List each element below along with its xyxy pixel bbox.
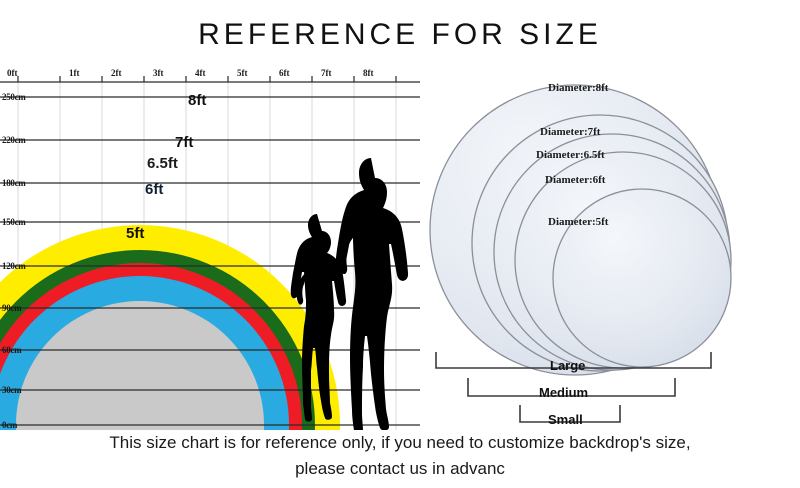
arc-label-6ft: 6ft xyxy=(145,181,163,198)
bracket-label-medium: Medium xyxy=(539,385,588,400)
page-title: REFERENCE FOR SIZE xyxy=(0,18,800,52)
y-tick-30cm: 30cm xyxy=(2,385,21,395)
diameter-circles-panel: Diameter:8ft Diameter:7ft Diameter:6.5ft… xyxy=(420,60,800,430)
y-tick-150cm: 150cm xyxy=(2,217,26,227)
footer-line-1: This size chart is for reference only, i… xyxy=(0,430,800,456)
x-tick-3ft: 3ft xyxy=(153,68,164,78)
circle-label-7ft: Diameter:7ft xyxy=(540,126,600,138)
footer-note: This size chart is for reference only, i… xyxy=(0,430,800,482)
bracket-label-small: Small xyxy=(548,412,583,427)
diameter-circles-svg xyxy=(420,60,800,430)
y-tick-180cm: 180cm xyxy=(2,178,26,188)
bracket-label-large: Large xyxy=(550,358,585,373)
footer-line-2: please contact us in advanc xyxy=(0,456,800,482)
y-tick-90cm: 90cm xyxy=(2,303,21,313)
arc-label-5ft: 5ft xyxy=(126,225,144,242)
y-tick-250cm: 250cm xyxy=(2,92,26,102)
arc-label-8ft: 8ft xyxy=(188,92,206,109)
scale-chart-panel: 0ft 1ft 2ft 3ft 4ft 5ft 6ft 7ft 8ft 250c… xyxy=(0,68,420,430)
y-tick-60cm: 60cm xyxy=(2,345,21,355)
scale-chart-svg xyxy=(0,68,420,430)
x-tick-5ft: 5ft xyxy=(237,68,248,78)
x-tick-1ft: 1ft xyxy=(69,68,80,78)
y-tick-0cm: 0cm xyxy=(2,420,17,430)
size-reference-chart: REFERENCE FOR SIZE xyxy=(0,0,800,488)
circle-label-6ft: Diameter:6ft xyxy=(545,174,605,186)
y-tick-220cm: 220cm xyxy=(2,135,26,145)
arc-label-6p5ft: 6.5ft xyxy=(147,155,178,172)
x-tick-2ft: 2ft xyxy=(111,68,122,78)
x-tick-7ft: 7ft xyxy=(321,68,332,78)
y-tick-120cm: 120cm xyxy=(2,261,26,271)
x-tick-4ft: 4ft xyxy=(195,68,206,78)
x-tick-0ft: 0ft xyxy=(7,68,18,78)
circle-label-6p5ft: Diameter:6.5ft xyxy=(536,149,605,161)
x-tick-8ft: 8ft xyxy=(363,68,374,78)
arc-label-7ft: 7ft xyxy=(175,134,193,151)
x-tick-6ft: 6ft xyxy=(279,68,290,78)
circle-label-5ft: Diameter:5ft xyxy=(548,216,608,228)
circle-label-8ft: Diameter:8ft xyxy=(548,82,608,94)
